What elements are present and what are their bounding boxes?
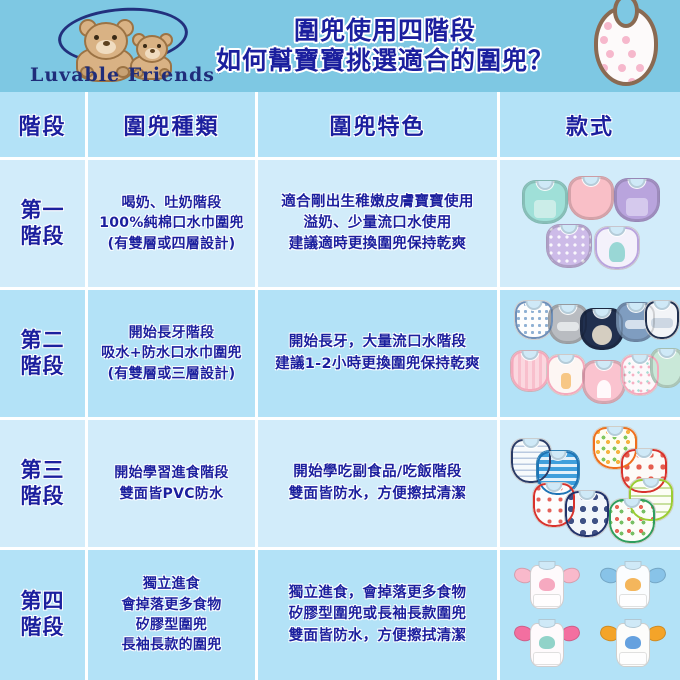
bib-pvc-green-veg [608,498,656,544]
column-header-style: 款式 [500,92,680,160]
bib-mint-green [650,348,680,388]
bib-feature-cell: 獨立進食，會掉落更多食物 矽膠型圍兜或長袖長款圍兜 雙面皆防水，方便擦拭清潔 [258,550,500,680]
title-line-2: 如何幫寶寶挑選適合的圍兜？ [215,46,555,76]
bib-product-photo-stage4 [504,553,676,677]
bib-mint [522,180,568,224]
brand-logo: Luvable Friends® [30,6,215,90]
page-title: 圍兜使用四階段 如何幫寶寶挑選適合的圍兜？ [215,16,555,75]
bib-type-cell: 獨立進食 會掉落更多食物 矽膠型圍兜 長袖長款的圍兜 [88,550,258,680]
stage-cell: 第三 階段 [0,420,88,550]
bib-pink-stripe [510,350,550,392]
brand-name-text: Luvable Friends [30,64,215,86]
bib-pvc-navy-dots [564,490,610,538]
stage-cell: 第二 階段 [0,290,88,420]
bib-type-cell: 開始學習進食階段 雙面皆PVC防水 [88,420,258,550]
table-row: 第二 階段 開始長牙階段 吸水+防水口水巾圍兜 (有雙層或三層設計) 開始長牙，… [0,290,680,420]
style-image-cell [500,550,680,680]
bib-white-print [644,300,680,340]
smock-blue [600,561,666,611]
table-row: 第一 階段 喝奶、吐奶階段 100%純棉口水巾圍兜 (有雙層或四層設計) 適合剛… [0,160,680,290]
bib-product-photo-stage3 [504,422,676,546]
style-image-cell [500,420,680,550]
bib-purple-dots [546,224,592,268]
bib-feature-cell: 適合剛出生稚嫩皮膚寶寶使用 溢奶、少量流口水使用 建議適時更換圍兜保持乾爽 [258,160,500,290]
polka-dot-bib-icon [594,6,658,86]
smock-pink [514,561,580,611]
smock-hot-pink [514,619,580,669]
bib-feature-cell: 開始長牙，大量流口水階段 建議1-2小時更換圍兜保持乾爽 [258,290,500,420]
bib-type-cell: 開始長牙階段 吸水+防水口水巾圍兜 (有雙層或三層設計) [88,290,258,420]
column-header-bib-type: 圍兜種類 [88,92,258,160]
stage-cell: 第四 階段 [0,550,88,680]
bib-mermaid [594,226,640,270]
stage-cell: 第一 階段 [0,160,88,290]
bib-product-photo-stage2 [504,292,676,416]
stages-table: 階段 圍兜種類 圍兜特色 款式 第一 階段 喝奶、吐奶階段 100%純棉口水巾圍… [0,92,680,680]
title-line-1: 圍兜使用四階段 [294,16,476,45]
bib-feature-cell: 開始學吃副食品/吃飯階段 雙面皆防水，方便擦拭清潔 [258,420,500,550]
column-header-stage: 階段 [0,92,88,160]
smock-orange [600,619,666,669]
bib-purple [614,178,660,222]
bib-pink [568,176,614,220]
bib-popsicle [546,354,586,396]
style-image-cell [500,290,680,420]
infographic-page: Luvable Friends® 圍兜使用四階段 如何幫寶寶挑選適合的圍兜？ 階… [0,0,680,680]
bib-product-photo-stage1 [504,162,676,286]
bib-type-cell: 喝奶、吐奶階段 100%純棉口水巾圍兜 (有雙層或四層設計) [88,160,258,290]
column-header-bib-feature: 圍兜特色 [258,92,500,160]
table-row: 第三 階段 開始學習進食階段 雙面皆PVC防水 開始學吃副食品/吃飯階段 雙面皆… [0,420,680,550]
table-header-row: 階段 圍兜種類 圍兜特色 款式 [0,92,680,160]
style-image-cell [500,160,680,290]
brand-name: Luvable Friends® [30,64,215,86]
header-banner: Luvable Friends® 圍兜使用四階段 如何幫寶寶挑選適合的圍兜？ [0,0,680,92]
table-row: 第四 階段 獨立進食 會掉落更多食物 矽膠型圍兜 長袖長款的圍兜 獨立進食，會掉… [0,550,680,680]
